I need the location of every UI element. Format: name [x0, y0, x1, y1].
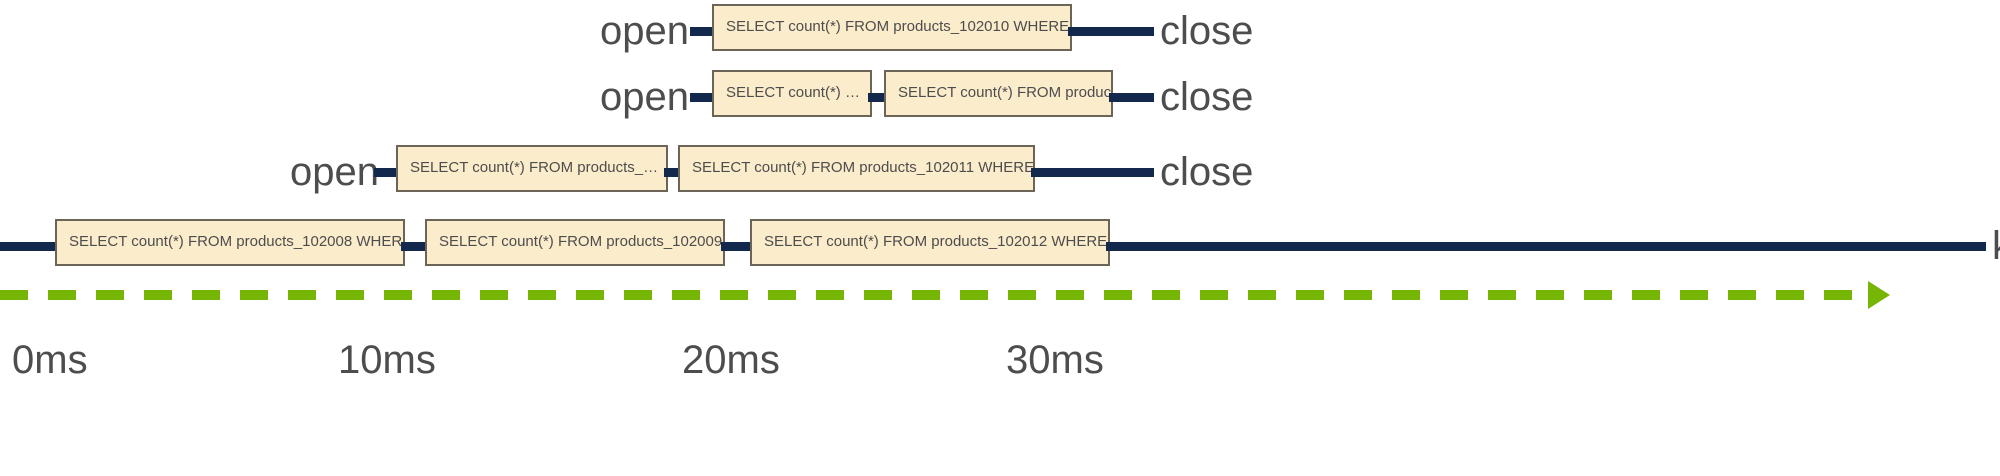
row-4-statement-2[interactable]: SELECT count(*) FROM products_102009 ..: [425, 219, 725, 266]
row-2-connector-right: [1109, 93, 1154, 102]
row-2-close-label: close: [1160, 77, 1253, 117]
time-tick-0ms: 0ms: [12, 340, 88, 380]
row-4-statement-3-text: SELECT count(*) FROM products_102012 WHE…: [764, 234, 1110, 251]
time-axis-arrow-icon: [1868, 281, 1890, 309]
row-4-statement-2-text: SELECT count(*) FROM products_102009 ..: [439, 234, 725, 251]
row-1-open-label: open: [600, 11, 689, 51]
row-2-statement-1-text: SELECT count(*) …: [726, 85, 860, 102]
row-4-statement-1-text: SELECT count(*) FROM products_102008 WHE…: [69, 234, 405, 251]
time-tick-10ms: 10ms: [338, 340, 436, 380]
row-2-open-label: open: [600, 77, 689, 117]
row-3-close-label: close: [1160, 152, 1253, 192]
time-tick-30ms: 30ms: [1006, 340, 1104, 380]
row-3-statement-2[interactable]: SELECT count(*) FROM products_102011 WHE…: [678, 145, 1035, 192]
row-1-connector-right: [1068, 27, 1154, 36]
row-2-statement-1[interactable]: SELECT count(*) …: [712, 70, 872, 117]
row-1-statement-1-text: SELECT count(*) FROM products_102010 WHE…: [726, 19, 1072, 36]
row-3-connector-right: [1031, 168, 1154, 177]
time-tick-20ms: 20ms: [682, 340, 780, 380]
row-4-statement-1[interactable]: SELECT count(*) FROM products_102008 WHE…: [55, 219, 405, 266]
row-4-keep-label: keep: [1992, 226, 2000, 266]
row-2-statement-2-text: SELECT count(*) FROM produc: [898, 85, 1111, 102]
row-3-statement-2-text: SELECT count(*) FROM products_102011 WHE…: [692, 160, 1035, 177]
timeline-diagram: open SELECT count(*) FROM products_10201…: [0, 0, 2000, 476]
row-3-statement-1[interactable]: SELECT count(*) FROM products_…: [396, 145, 668, 192]
row-2-statement-2[interactable]: SELECT count(*) FROM produc: [884, 70, 1113, 117]
row-4-connector-right: [1106, 242, 1986, 251]
row-1-statement-1[interactable]: SELECT count(*) FROM products_102010 WHE…: [712, 4, 1072, 51]
row-4-connector-left: [0, 242, 60, 251]
time-axis-dashed-line: [0, 290, 1872, 300]
row-3-open-label: open: [290, 152, 379, 192]
row-4-statement-3[interactable]: SELECT count(*) FROM products_102012 WHE…: [750, 219, 1110, 266]
row-3-statement-1-text: SELECT count(*) FROM products_…: [410, 160, 658, 177]
row-1-close-label: close: [1160, 11, 1253, 51]
